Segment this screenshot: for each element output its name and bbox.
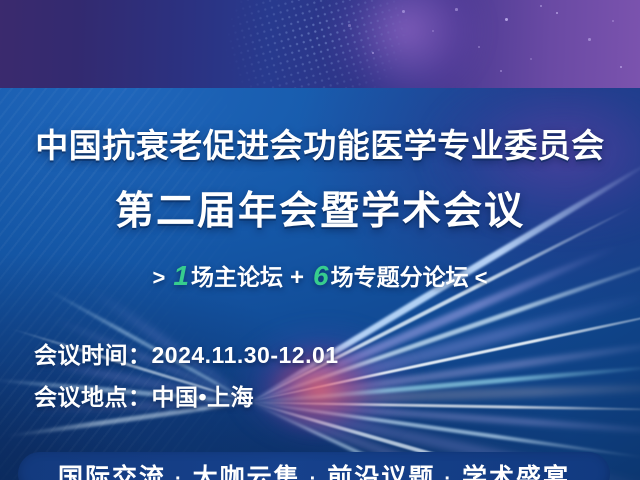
poster-header-bar (0, 0, 640, 88)
sparkle-dot (588, 38, 591, 41)
subtitle-plus-sign: + (283, 264, 311, 291)
header-sparkle-dots (0, 0, 640, 88)
highlights-banner-text: 国际交流·大咖云集·前沿议题·学术盛宴 (18, 458, 610, 480)
sparkle-dot (530, 58, 532, 60)
meeting-time-value: 2024.11.30-12.01 (152, 342, 339, 368)
sparkle-dot (500, 70, 502, 72)
meeting-place-label: 会议地点： (34, 384, 152, 410)
highlights-item: 大咖云集 (193, 464, 301, 480)
meeting-place-row: 会议地点：中国•上海 (34, 378, 254, 412)
highlights-separator: · (301, 468, 328, 480)
highlights-separator: · (435, 468, 462, 480)
highlights-item: 学术盛宴 (462, 464, 570, 480)
sparkle-dot (478, 46, 480, 48)
highlights-item: 前沿议题 (327, 464, 435, 480)
sparkle-dot (348, 24, 351, 27)
poster-title-line2: 第二届年会暨学术会议 (0, 180, 640, 236)
meeting-time-label: 会议时间： (34, 342, 152, 368)
highlights-banner: 国际交流·大咖云集·前沿议题·学术盛宴 (18, 452, 610, 480)
subtitle-subforum-label: 场专题分论坛 (331, 264, 469, 290)
sparkle-dot (402, 10, 405, 13)
meeting-time-row: 会议时间：2024.11.30-12.01 (34, 336, 339, 370)
poster-title-line1: 中国抗衰老促进会功能医学专业委员会 (0, 119, 640, 167)
sparkle-dot (505, 18, 508, 21)
sparkle-dot (620, 66, 622, 68)
sparkle-dot (372, 52, 374, 54)
sparkle-dot (455, 8, 458, 11)
highlights-separator: · (166, 468, 193, 480)
conference-poster: 中 国 抗 衰 老 促 进 会 CCAPA 中国抗衰老促进会 功能医学专业委员会… (0, 0, 640, 480)
subtitle-close-angle: < (469, 265, 494, 290)
subtitle-subforum-count: 6 (311, 260, 331, 291)
subtitle-open-angle: > (147, 265, 172, 290)
subtitle-forum-count: 1 (171, 260, 191, 291)
sparkle-dot (612, 20, 614, 22)
sparkle-dot (556, 12, 558, 14)
sparkle-dot (540, 5, 542, 7)
meeting-place-value: 中国•上海 (152, 384, 255, 410)
subtitle-forum-label: 场主论坛 (191, 264, 283, 290)
poster-subtitle: >1场主论坛+6场专题分论坛< (0, 258, 640, 292)
highlights-item: 国际交流 (58, 464, 166, 480)
sparkle-dot (432, 30, 434, 32)
